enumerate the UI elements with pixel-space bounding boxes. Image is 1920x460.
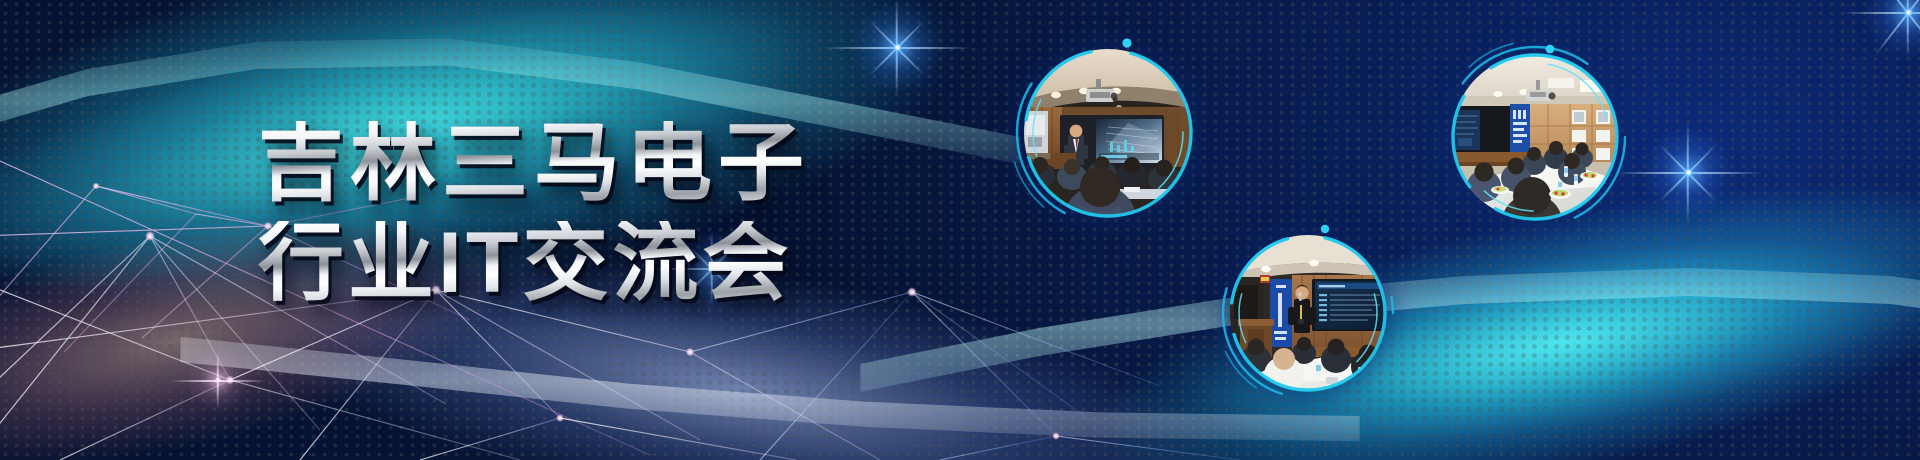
ring-node-dot <box>1321 225 1329 233</box>
medallion-ring-decor <box>1024 49 1192 217</box>
ring-node-dot <box>1122 38 1131 47</box>
ring-node-dot <box>1546 45 1555 54</box>
medallion-ring-decor <box>1230 235 1386 391</box>
photo-medallion-conference-room-speaker-bottom[interactable] <box>1230 235 1386 391</box>
headline-line-2: 行业IT交流会 <box>258 221 810 305</box>
page-title: 吉林三马电子 行业IT交流会 <box>258 121 810 306</box>
event-banner: 吉林三马电子 行业IT交流会 <box>0 0 1920 460</box>
photo-medallion-conference-room-presentation-left[interactable] <box>1024 49 1192 217</box>
photo-medallion-conference-room-audience-right[interactable] <box>1452 54 1618 220</box>
medallion-ring-decor <box>1452 54 1618 220</box>
headline-line-1: 吉林三马电子 <box>258 121 810 205</box>
